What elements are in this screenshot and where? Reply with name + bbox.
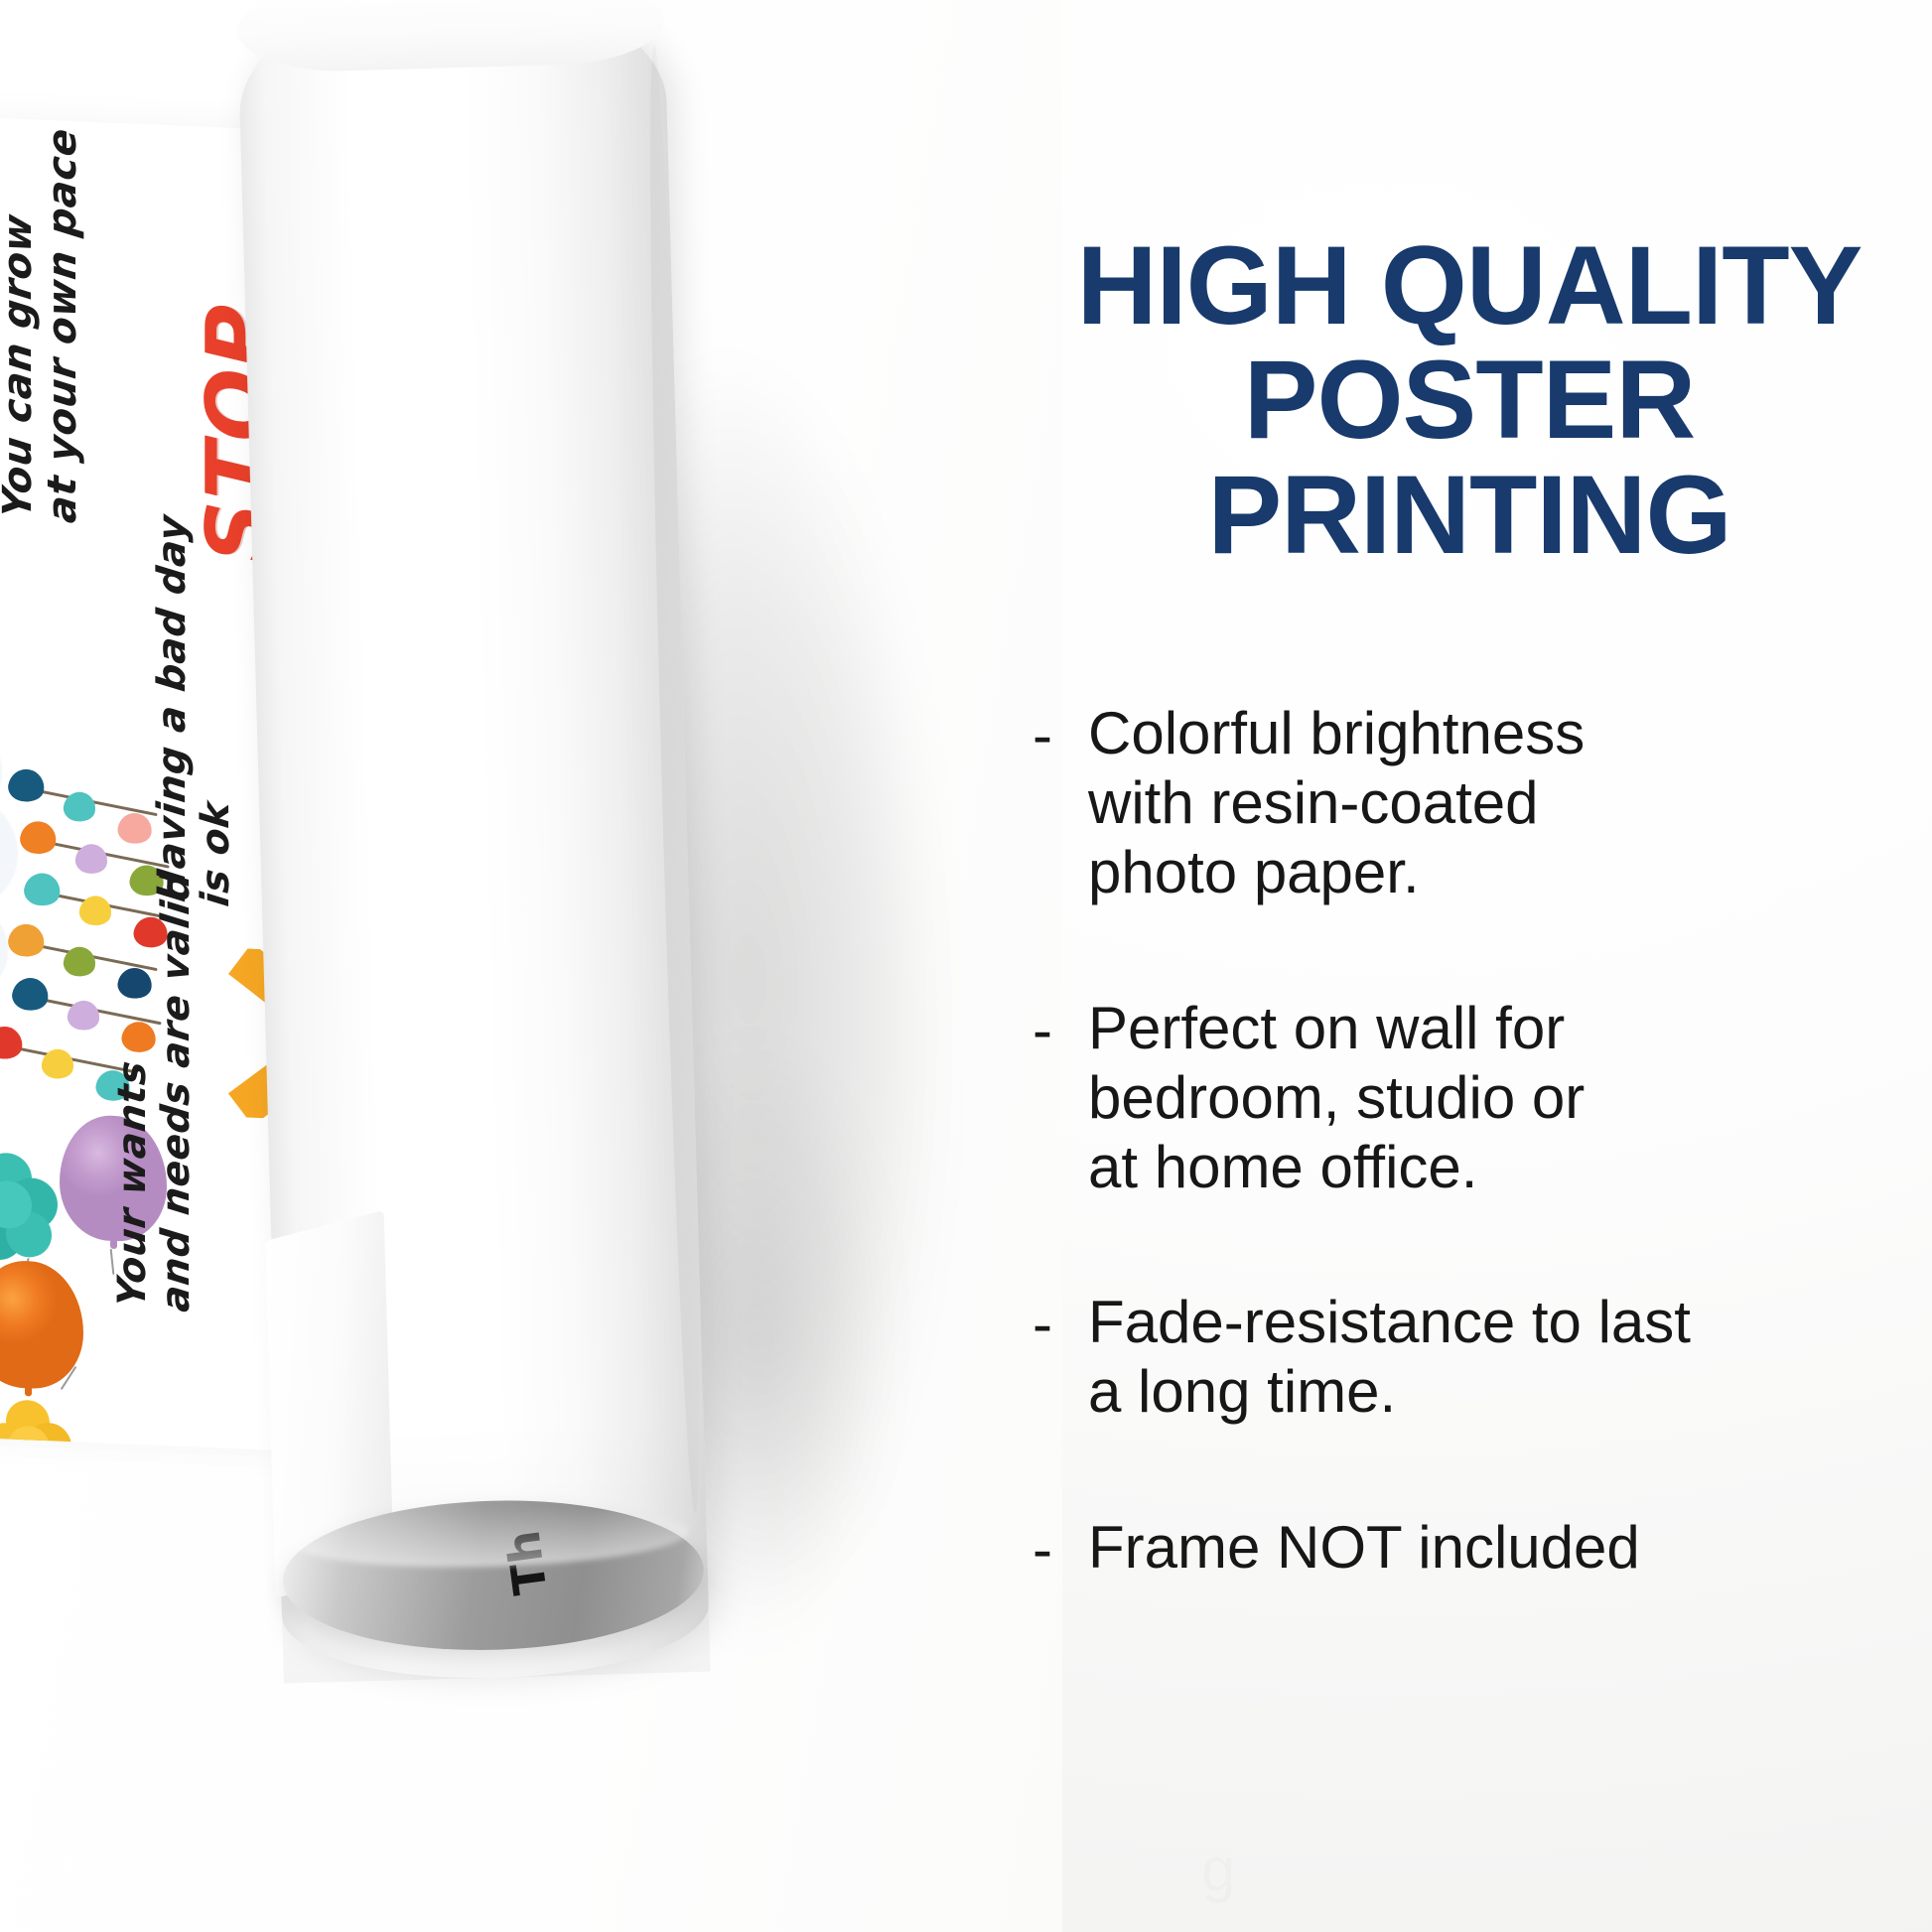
flower-stem	[16, 1258, 30, 1294]
garland-bead	[94, 1067, 132, 1104]
product-photo-composite: You can grow at your own pace STOP Your …	[0, 0, 1932, 1932]
feature-list: - Colorful brightness with resin-coated …	[1033, 699, 1906, 1585]
list-item: - Fade-resistance to last a long time.	[1033, 1288, 1906, 1427]
garland-bead	[132, 914, 170, 951]
bullet-marker: -	[1033, 1288, 1088, 1359]
list-item-text: Colorful brightness with resin-coated ph…	[1088, 699, 1585, 908]
garland-bead	[40, 1046, 75, 1082]
garland-bead	[73, 841, 109, 877]
cloud-illustration	[0, 709, 103, 1017]
headline-line-1: HIGH QUALITY	[1033, 228, 1906, 343]
list-item-text: Fade-resistance to last a long time.	[1088, 1288, 1691, 1427]
bullet-marker: -	[1033, 699, 1088, 770]
list-item-text: Frame NOT included	[1088, 1513, 1640, 1583]
garland-bead	[128, 862, 166, 898]
garland-bead	[18, 818, 59, 857]
balloon-purple	[60, 1114, 167, 1244]
poster-quote-1: You can grow at your own pace	[0, 121, 85, 525]
garland-bead	[116, 810, 154, 847]
garland-bead	[116, 965, 154, 1002]
garland-bead	[22, 870, 63, 908]
balloon-purple-string	[110, 1249, 115, 1275]
poster-quote-3: Having a bad day is ok	[151, 512, 237, 908]
headline-line-2: POSTER	[1033, 343, 1906, 457]
garland-bead	[6, 921, 47, 960]
faint-watermark: g	[1201, 1835, 1235, 1905]
list-item: - Perfect on wall for bedroom, studio or…	[1033, 994, 1906, 1203]
rolled-poster: Th	[236, 0, 710, 1684]
list-item: - Colorful brightness with resin-coated …	[1033, 699, 1906, 908]
teal-flower	[0, 1151, 66, 1265]
garland-bead	[62, 944, 97, 980]
bullet-marker: -	[1033, 1513, 1088, 1585]
bullet-marker: -	[1033, 994, 1088, 1065]
garland-bead	[66, 998, 101, 1034]
garland-bead	[10, 975, 51, 1014]
marketing-copy: HIGH QUALITY POSTER PRINTING - Colorful …	[1033, 228, 1906, 1670]
garland-bead	[77, 893, 113, 928]
garland-bead	[120, 1019, 158, 1055]
headline-line-3: PRINTING	[1033, 458, 1906, 572]
page-title: HIGH QUALITY POSTER PRINTING	[1033, 228, 1906, 572]
list-item: - Frame NOT included	[1033, 1513, 1906, 1585]
poster-quote-4: Your wants and needs are valid	[111, 865, 198, 1313]
garland-bead	[62, 789, 97, 825]
list-item-text: Perfect on wall for bedroom, studio or a…	[1088, 994, 1585, 1203]
garland-bead	[6, 766, 47, 805]
balloon-orange-string	[61, 1366, 77, 1390]
balloon-orange	[0, 1259, 83, 1391]
garland-bead	[0, 1024, 25, 1062]
